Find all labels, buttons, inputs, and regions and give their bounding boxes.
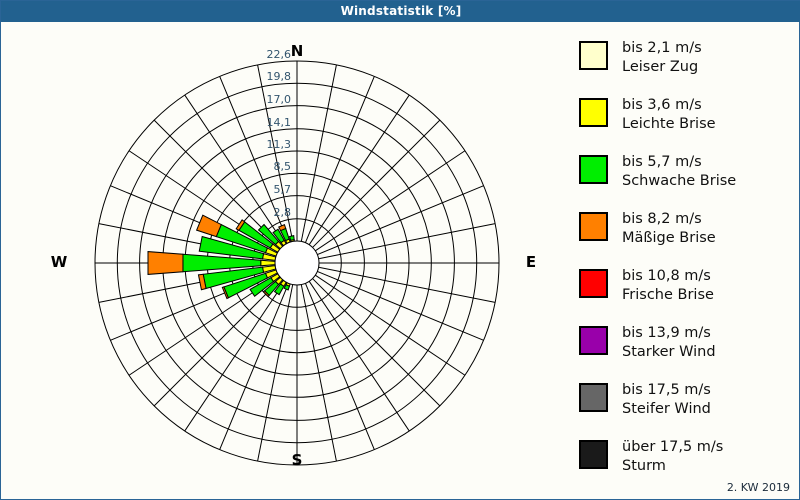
wind-rose-segment	[284, 285, 289, 290]
legend-color-swatch	[579, 41, 608, 70]
legend-label: bis 3,6 m/sLeichte Brise	[622, 96, 716, 133]
radial-tick-label: 8,5	[249, 160, 291, 173]
legend-label: bis 5,7 m/sSchwache Brise	[622, 153, 736, 190]
grid-spoke	[301, 285, 336, 462]
grid-spoke	[319, 267, 496, 302]
legend-beaufort-name: Leiser Zug	[622, 58, 702, 77]
radial-tick-label: 17,0	[249, 93, 291, 106]
legend-speed-range: bis 10,8 m/s	[622, 267, 714, 286]
legend-speed-range: bis 3,6 m/s	[622, 96, 716, 115]
legend-beaufort-name: Schwache Brise	[622, 172, 736, 191]
legend-row: bis 2,1 m/sLeiser Zug	[579, 39, 794, 84]
wind-rose-segment	[261, 260, 275, 266]
wind-rose-plot: N S W E 2,85,78,511,314,117,019,822,6	[1, 22, 566, 500]
wind-rose-segment	[148, 252, 183, 275]
footer-period-label: 2. KW 2019	[727, 481, 790, 494]
legend-speed-range: bis 5,7 m/s	[622, 153, 736, 172]
legend-beaufort-name: Steifer Wind	[622, 400, 711, 419]
legend-speed-range: bis 17,5 m/s	[622, 381, 711, 400]
legend-color-swatch	[579, 212, 608, 241]
legend-row: bis 3,6 m/sLeichte Brise	[579, 96, 794, 141]
grid-spoke	[301, 65, 336, 242]
legend-label: bis 13,9 m/sStarker Wind	[622, 324, 716, 361]
legend-row: bis 13,9 m/sStarker Wind	[579, 324, 794, 369]
legend-color-swatch	[579, 98, 608, 127]
legend-label: bis 2,1 m/sLeiser Zug	[622, 39, 702, 76]
legend-color-swatch	[579, 440, 608, 469]
radial-tick-label: 2,8	[249, 206, 291, 219]
legend-label: über 17,5 m/sSturm	[622, 438, 723, 475]
legend-color-swatch	[579, 269, 608, 298]
legend-row: bis 10,8 m/sFrische Brise	[579, 267, 794, 312]
radial-tick-label: 22,6	[249, 48, 291, 61]
grid-spoke	[319, 224, 496, 259]
radial-tick-label: 11,3	[249, 138, 291, 151]
wind-rose-segment	[197, 215, 222, 236]
compass-label-west: W	[29, 253, 89, 271]
grid-spoke	[313, 120, 440, 247]
legend-beaufort-name: Frische Brise	[622, 286, 714, 305]
legend-row: bis 8,2 m/sMäßige Brise	[579, 210, 794, 255]
legend-row: bis 5,7 m/sSchwache Brise	[579, 153, 794, 198]
compass-label-south: S	[267, 451, 327, 469]
radial-tick-label: 19,8	[249, 70, 291, 83]
legend-speed-range: bis 8,2 m/s	[622, 210, 716, 229]
grid-spoke	[258, 285, 293, 462]
legend-beaufort-name: Sturm	[622, 457, 723, 476]
legend-speed-range: bis 13,9 m/s	[622, 324, 716, 343]
window-title: Windstatistik [%]	[341, 4, 462, 18]
grid-spoke	[154, 279, 281, 406]
legend-label: bis 10,8 m/sFrische Brise	[622, 267, 714, 304]
calm-circle	[275, 241, 319, 285]
legend-row: bis 17,5 m/sSteifer Wind	[579, 381, 794, 426]
radial-tick-label: 14,1	[249, 116, 291, 129]
legend-row: über 17,5 m/sSturm	[579, 438, 794, 483]
windstatistik-window: Windstatistik [%] N S W E 2,85,78,511,31…	[0, 0, 800, 500]
legend-color-swatch	[579, 383, 608, 412]
wind-speed-legend: bis 2,1 m/sLeiser Zugbis 3,6 m/sLeichte …	[579, 39, 794, 495]
calm-center-hub	[275, 241, 319, 285]
legend-beaufort-name: Mäßige Brise	[622, 229, 716, 248]
radial-tick-label: 5,7	[249, 183, 291, 196]
legend-speed-range: über 17,5 m/s	[622, 438, 723, 457]
compass-label-east: E	[501, 253, 561, 271]
legend-label: bis 17,5 m/sSteifer Wind	[622, 381, 711, 418]
legend-color-swatch	[579, 326, 608, 355]
legend-speed-range: bis 2,1 m/s	[622, 39, 702, 58]
wind-rose-segment	[290, 236, 295, 241]
legend-beaufort-name: Leichte Brise	[622, 115, 716, 134]
legend-beaufort-name: Starker Wind	[622, 343, 716, 362]
grid-spoke	[313, 279, 440, 406]
wind-rose-petals	[148, 215, 294, 298]
legend-color-swatch	[579, 155, 608, 184]
legend-label: bis 8,2 m/sMäßige Brise	[622, 210, 716, 247]
window-title-bar: Windstatistik [%]	[1, 1, 800, 22]
